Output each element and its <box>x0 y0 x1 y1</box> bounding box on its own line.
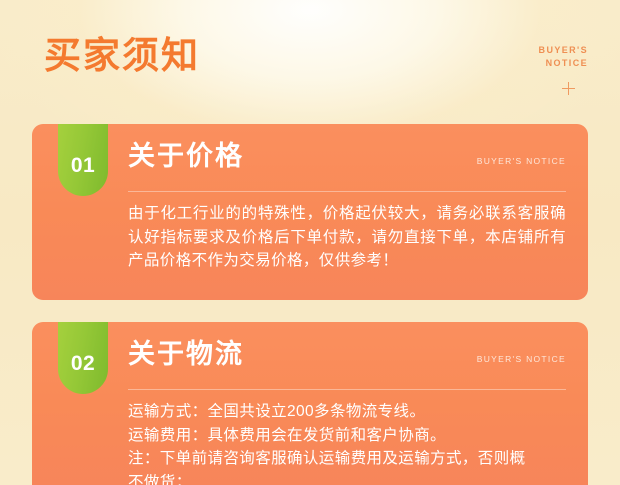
card-divider <box>128 191 566 192</box>
card-divider <box>128 389 566 390</box>
page-background: 买家须知 BUYER'S NOTICE 01 关于价格 BUYER'S NOTI… <box>0 0 620 485</box>
plus-icon <box>562 82 576 96</box>
header-english-label: BUYER'S NOTICE <box>458 44 588 70</box>
notice-card-logistics: 02 关于物流 BUYER'S NOTICE 运输方式：全国共设立200多条物流… <box>32 322 588 485</box>
card-body-line: 运输方式：全国共设立200多条物流专线。 <box>128 400 566 424</box>
card-body-text: 由于化工行业的的特殊性，价格起伏较大，请务必联系客服确认好指标要求及价格后下单付… <box>128 202 566 273</box>
card-body-paragraph: 由于化工行业的的特殊性，价格起伏较大，请务必联系客服确认好指标要求及价格后下单付… <box>128 202 566 273</box>
card-header: 关于物流 BUYER'S NOTICE <box>128 322 566 390</box>
card-number-label: 02 <box>58 352 108 376</box>
card-header: 关于价格 BUYER'S NOTICE <box>128 124 566 192</box>
card-body-line: 运输费用：具体费用会在发货前和客户协商。 <box>128 424 566 448</box>
card-body-line: 注：下单前请咨询客服确认运输费用及运输方式，否则概 <box>128 447 566 471</box>
card-number-badge: 02 <box>58 322 108 394</box>
notice-card-price: 01 关于价格 BUYER'S NOTICE 由于化工行业的的特殊性，价格起伏较… <box>32 124 588 300</box>
header-english-line-2: NOTICE <box>458 57 588 70</box>
card-english-label: BUYER'S NOTICE <box>477 156 566 166</box>
card-english-label: BUYER'S NOTICE <box>477 354 566 364</box>
card-body-text: 运输方式：全国共设立200多条物流专线。 运输费用：具体费用会在发货前和客户协商… <box>128 400 566 485</box>
card-title: 关于物流 <box>128 340 244 370</box>
card-body-line: 不做货； <box>128 471 566 485</box>
header-english-line-1: BUYER'S <box>458 44 588 57</box>
card-title: 关于价格 <box>128 142 244 172</box>
card-number-label: 01 <box>58 154 108 178</box>
page-header: 买家须知 BUYER'S NOTICE <box>0 0 620 112</box>
card-number-badge: 01 <box>58 124 108 196</box>
page-title: 买家须知 <box>44 36 200 77</box>
